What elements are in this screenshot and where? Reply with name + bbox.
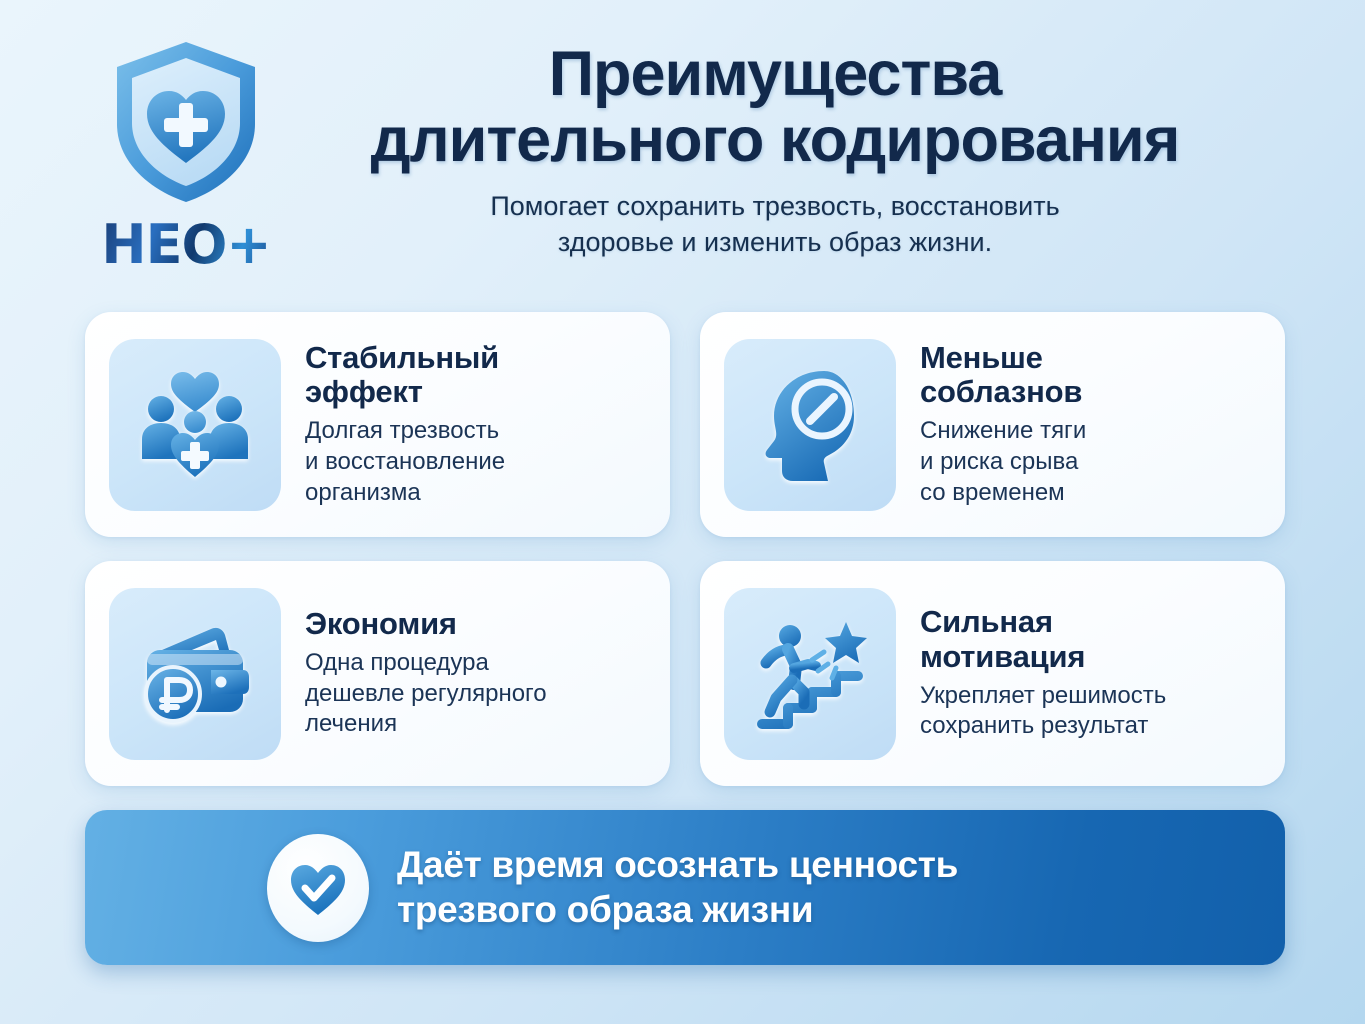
card-desc-line3: лечения	[305, 710, 397, 737]
page-subtitle: Помогает сохранить трезвость, восстанови…	[270, 189, 1280, 260]
benefit-card-grid: Стабильный эффект Долгая трезвость и вос…	[85, 312, 1285, 786]
benefit-card-savings[interactable]: Экономия Одна процедура дешевле регулярн…	[85, 561, 670, 786]
card-title-line1: Стабильный	[305, 340, 499, 375]
card-title-line2: мотивация	[920, 639, 1085, 674]
banner-line1: Даёт время осознать ценность	[397, 844, 958, 885]
card-title: Экономия	[305, 607, 648, 642]
stairs-star-person-icon	[724, 588, 896, 760]
card-title-line1: Экономия	[305, 606, 457, 641]
card-title-line1: Меньше	[920, 340, 1043, 375]
card-title: Стабильный эффект	[305, 341, 648, 410]
header: НЕО+ Преимущества длительного кодировани…	[0, 0, 1365, 300]
heart-check-icon	[267, 834, 369, 942]
infographic-poster: НЕО+ Преимущества длительного кодировани…	[0, 0, 1365, 1024]
bottom-banner[interactable]: Даёт время осознать ценность трезвого об…	[85, 810, 1285, 965]
page-title: Преимущества длительного кодирования	[270, 42, 1280, 173]
card-text: Стабильный эффект Долгая трезвость и вос…	[305, 341, 648, 509]
card-desc-line3: организма	[305, 479, 421, 506]
benefit-card-fewer-temptations[interactable]: Меньше соблазнов Снижение тяги и риска с…	[700, 312, 1285, 537]
family-heart-plus-icon	[109, 339, 281, 511]
card-desc-line2: дешевле регулярного	[305, 680, 547, 707]
card-text: Меньше соблазнов Снижение тяги и риска с…	[920, 341, 1263, 509]
card-title-line2: соблазнов	[920, 374, 1082, 409]
card-desc-line1: Одна процедура	[305, 649, 489, 676]
card-description: Долгая трезвость и восстановление органи…	[305, 416, 648, 508]
card-description: Укрепляет решимость сохранить результат	[920, 681, 1263, 742]
card-desc-line3: со временем	[920, 479, 1065, 506]
card-title: Сильная мотивация	[920, 605, 1263, 674]
card-description: Снижение тяги и риска срыва со временем	[920, 416, 1263, 508]
head-no-entry-icon	[724, 339, 896, 511]
card-text: Экономия Одна процедура дешевле регулярн…	[305, 607, 648, 740]
page-title-line1: Преимущества	[549, 39, 1002, 109]
card-desc-line1: Долгая трезвость	[305, 417, 499, 444]
banner-text: Даёт время осознать ценность трезвого об…	[397, 843, 958, 932]
wallet-ruble-icon	[109, 588, 281, 760]
card-desc-line2: и восстановление	[305, 448, 505, 475]
card-desc-line2: сохранить результат	[920, 712, 1148, 739]
banner-line2: трезвого образа жизни	[397, 889, 813, 930]
shield-heart-cross-icon	[111, 38, 261, 206]
benefit-card-strong-motivation[interactable]: Сильная мотивация Укрепляет решимость со…	[700, 561, 1285, 786]
title-block: Преимущества длительного кодирования Пом…	[270, 42, 1280, 260]
brand-name: НЕО+	[101, 218, 270, 272]
benefit-card-stable-effect[interactable]: Стабильный эффект Долгая трезвость и вос…	[85, 312, 670, 537]
card-desc-line1: Укрепляет решимость	[920, 682, 1166, 709]
card-desc-line2: и риска срыва	[920, 448, 1078, 475]
card-title: Меньше соблазнов	[920, 341, 1263, 410]
page-title-line2: длительного кодирования	[371, 105, 1180, 175]
card-text: Сильная мотивация Укрепляет решимость со…	[920, 605, 1263, 742]
card-title-line1: Сильная	[920, 604, 1053, 639]
page-subtitle-line2: здоровье и изменить образ жизни.	[558, 227, 992, 257]
brand-logo: НЕО+	[78, 38, 294, 293]
card-desc-line1: Снижение тяги	[920, 417, 1086, 444]
page-subtitle-line1: Помогает сохранить трезвость, восстанови…	[490, 191, 1059, 221]
card-title-line2: эффект	[305, 374, 423, 409]
card-description: Одна процедура дешевле регулярного лечен…	[305, 648, 648, 740]
